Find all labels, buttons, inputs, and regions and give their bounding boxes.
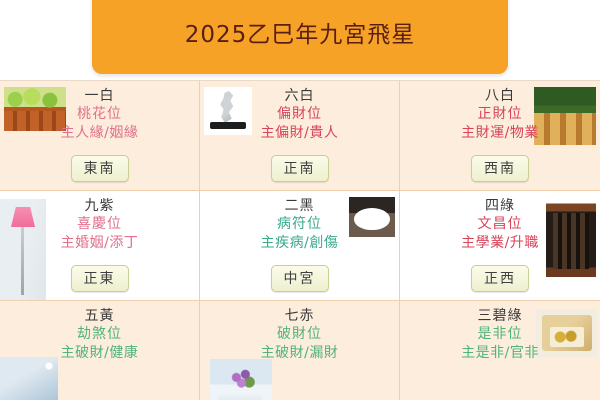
page-title: 2025乙巳年九宮飛星 bbox=[185, 14, 416, 47]
direction-badge[interactable]: 東南 bbox=[71, 155, 129, 182]
white-bowl-image bbox=[349, 197, 395, 237]
star-name: 五黃 bbox=[0, 307, 199, 325]
cell-text-block: 七赤 破財位 主破財/漏財 bbox=[200, 307, 399, 362]
grid-cell-yi-bai[interactable]: 一白 桃花位 主人緣/姻緣 東南 bbox=[0, 81, 200, 191]
position-name: 破財位 bbox=[200, 325, 399, 343]
grid-cell-er-hei[interactable]: 二黑 病符位 主疾病/創傷 中宮 bbox=[200, 191, 400, 301]
blue-cloud-image bbox=[0, 357, 58, 400]
header-banner: 2025乙巳年九宮飛星 bbox=[92, 0, 508, 74]
grid-cell-liu-bai[interactable]: 六白 偏財位 主偏財/貴人 正南 bbox=[200, 81, 400, 191]
direction-badge[interactable]: 西南 bbox=[471, 155, 529, 182]
direction-badge[interactable]: 中宮 bbox=[271, 265, 329, 292]
cell-text-block: 五黃 劫煞位 主破財/健康 bbox=[0, 307, 199, 362]
direction-badge[interactable]: 正西 bbox=[471, 265, 529, 292]
feng-shui-chart-page: 2025乙巳年九宮飛星 一白 桃花位 主人緣/姻緣 東南 六白 偏財位 主偏財/… bbox=[0, 0, 600, 400]
grid-cell-ba-bai[interactable]: 八白 正財位 主財運/物業 西南 bbox=[400, 81, 600, 191]
flower-vase-image bbox=[210, 359, 272, 400]
star-name: 七赤 bbox=[200, 307, 399, 325]
position-name: 劫煞位 bbox=[0, 325, 199, 343]
wooden-cabinet-image bbox=[546, 197, 596, 277]
grid-cell-qi-chi[interactable]: 七赤 破財位 主破財/漏財 bbox=[200, 301, 400, 400]
potted-plants-image bbox=[4, 87, 66, 131]
direction-badge[interactable]: 正東 bbox=[71, 265, 129, 292]
grid-cell-san-bi-lv[interactable]: 三碧綠 是非位 主是非/官非 bbox=[400, 301, 600, 400]
nine-palace-grid: 一白 桃花位 主人緣/姻緣 東南 六白 偏財位 主偏財/貴人 正南 八白 正財位… bbox=[0, 80, 600, 400]
grid-cell-jiu-zi[interactable]: 九紫 喜慶位 主婚姻/添丁 正東 bbox=[0, 191, 200, 301]
grid-cell-wu-huang[interactable]: 五黃 劫煞位 主破財/健康 bbox=[0, 301, 200, 400]
pink-floor-lamp-image bbox=[0, 199, 46, 301]
header-area: 2025乙巳年九宮飛星 bbox=[0, 0, 600, 80]
treasure-box-image bbox=[536, 309, 598, 357]
horse-statue-image bbox=[204, 87, 252, 135]
fortune-gods-image bbox=[534, 87, 596, 145]
grid-cell-si-lv[interactable]: 四綠 文昌位 主學業/升職 正西 bbox=[400, 191, 600, 301]
direction-badge[interactable]: 正南 bbox=[271, 155, 329, 182]
